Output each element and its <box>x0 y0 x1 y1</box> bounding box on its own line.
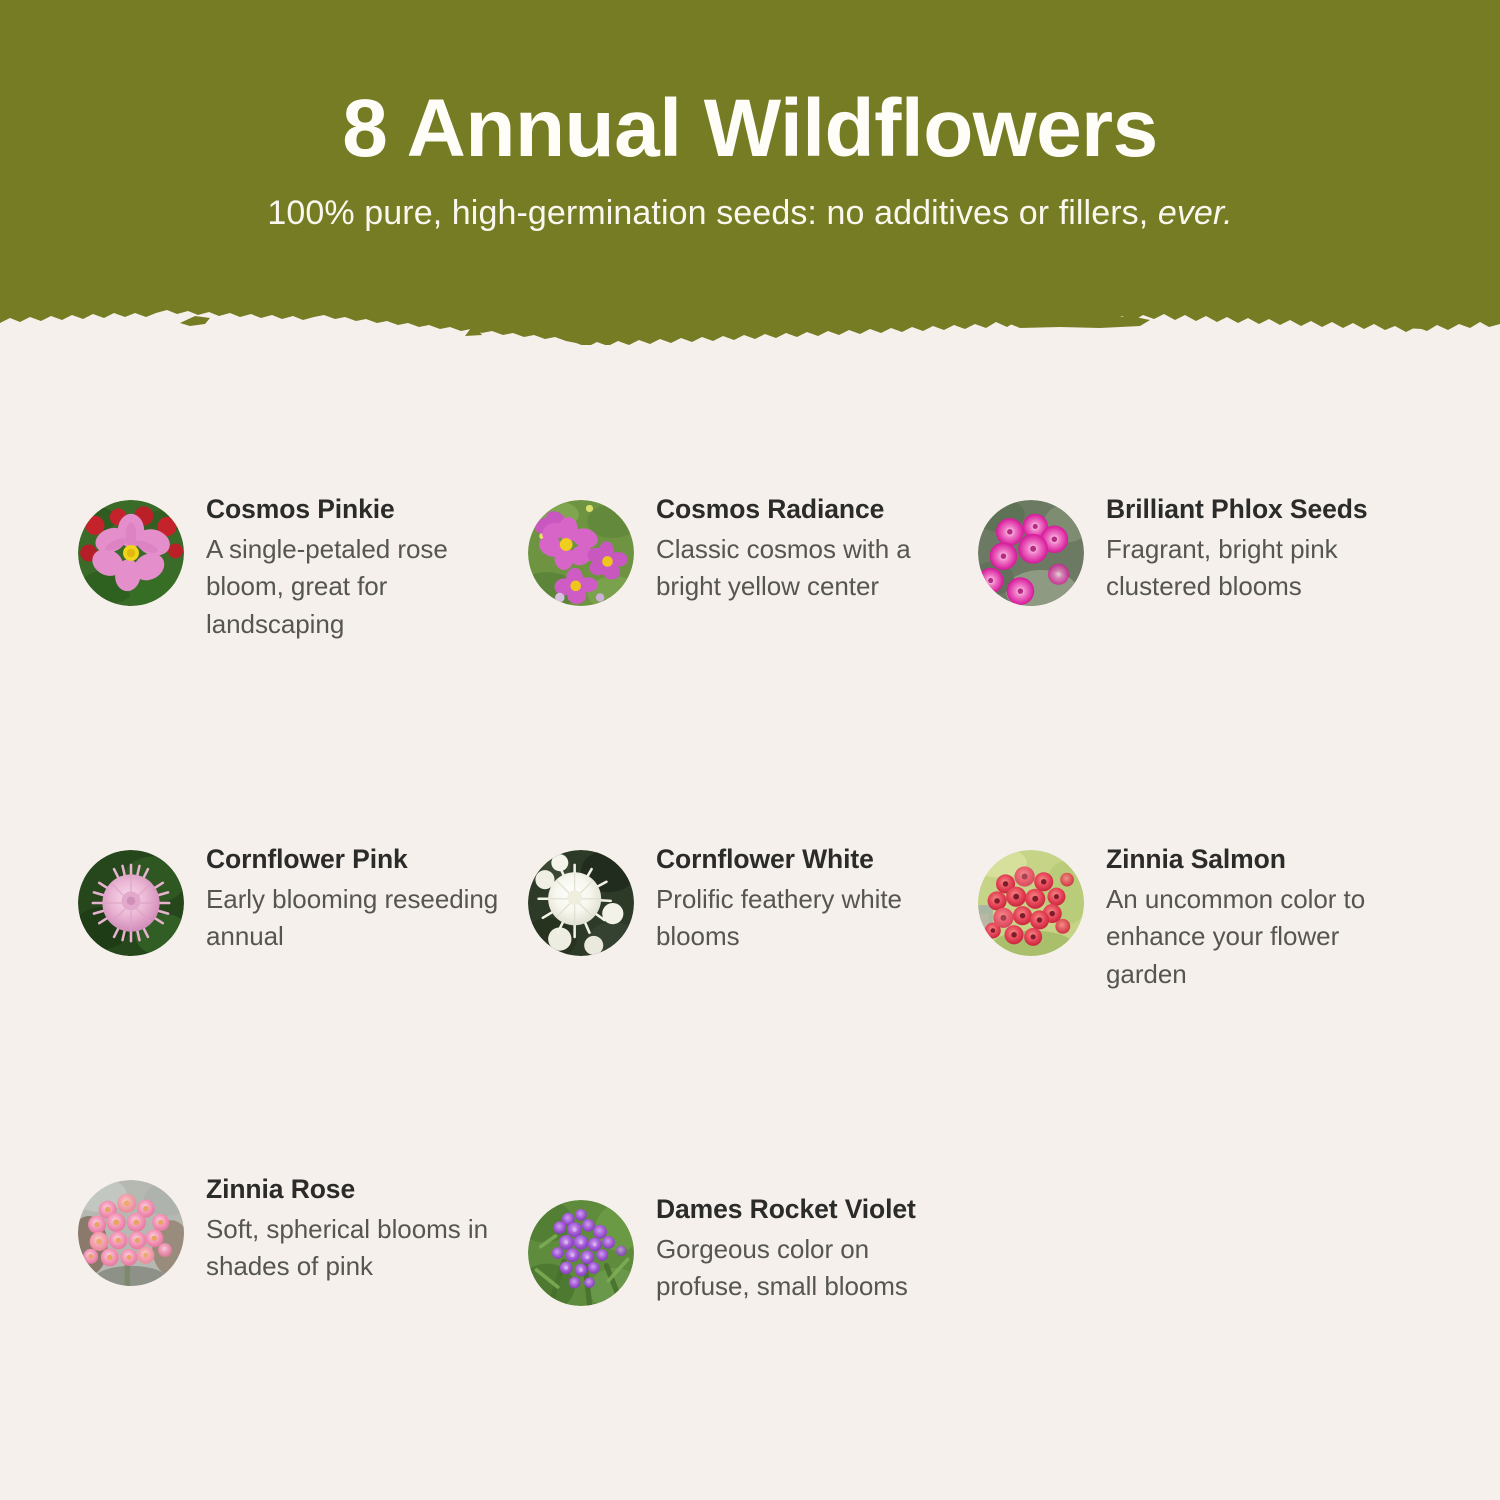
flower-text-block: Zinnia Rose Soft, spherical blooms in sh… <box>184 1150 510 1286</box>
list-item[interactable]: Brilliant Phlox Seeds Fragrant, bright p… <box>978 470 1438 606</box>
list-item[interactable]: Cosmos Radiance Classic cosmos with a br… <box>528 470 978 606</box>
flower-text-block: Cornflower White Prolific feathery white… <box>634 820 960 956</box>
subtitle-text: 100% pure, high-germination seeds: no ad… <box>267 194 1157 232</box>
flower-text-block: Brilliant Phlox Seeds Fragrant, bright p… <box>1084 470 1420 606</box>
flower-row: Cosmos Pinkie A single-petaled rose bloo… <box>78 470 1438 820</box>
list-item[interactable]: Cornflower White Prolific feathery white… <box>528 820 978 956</box>
flower-name: Cosmos Radiance <box>656 492 960 528</box>
flower-text-block: Cosmos Pinkie A single-petaled rose bloo… <box>184 470 510 643</box>
flower-name: Cornflower Pink <box>206 842 510 878</box>
flower-name: Dames Rocket Violet <box>656 1192 960 1228</box>
list-item[interactable]: Cosmos Pinkie A single-petaled rose bloo… <box>78 470 528 643</box>
flower-text-block: Zinnia Salmon An uncommon color to enhan… <box>1084 820 1420 993</box>
list-item[interactable]: Dames Rocket Violet Gorgeous color on pr… <box>528 1170 978 1306</box>
page-title: 8 Annual Wildflowers <box>0 0 1500 170</box>
flower-thumbnail-zinnia-salmon <box>978 850 1084 956</box>
flower-description: A single-petaled rose bloom, great for l… <box>206 528 510 643</box>
list-item[interactable]: Zinnia Rose Soft, spherical blooms in sh… <box>78 1150 528 1286</box>
flower-description: Gorgeous color on profuse, small blooms <box>656 1228 960 1306</box>
flower-row: Zinnia Rose Soft, spherical blooms in sh… <box>78 1150 1438 1390</box>
flower-description: Prolific feathery white blooms <box>656 878 960 956</box>
flower-thumbnail-cornflower-pink <box>78 850 184 956</box>
flower-thumbnail-cosmos-radiance <box>528 500 634 606</box>
flower-name: Brilliant Phlox Seeds <box>1106 492 1420 528</box>
header-banner: 8 Annual Wildflowers 100% pure, high-ger… <box>0 0 1500 345</box>
flower-name: Zinnia Rose <box>206 1172 510 1208</box>
flower-thumbnail-dames-rocket-violet <box>528 1200 634 1306</box>
flower-name: Zinnia Salmon <box>1106 842 1420 878</box>
flower-description: Early blooming reseeding annual <box>206 878 510 956</box>
flower-list: Cosmos Pinkie A single-petaled rose bloo… <box>78 470 1438 1390</box>
header-text-block: 8 Annual Wildflowers 100% pure, high-ger… <box>0 0 1500 233</box>
flower-name: Cosmos Pinkie <box>206 492 510 528</box>
flower-text-block: Dames Rocket Violet Gorgeous color on pr… <box>634 1170 960 1306</box>
flower-text-block: Cosmos Radiance Classic cosmos with a br… <box>634 470 960 606</box>
flower-description: Fragrant, bright pink clustered blooms <box>1106 528 1420 606</box>
flower-description: An uncommon color to enhance your flower… <box>1106 878 1420 993</box>
page-subtitle: 100% pure, high-germination seeds: no ad… <box>0 170 1500 233</box>
flower-thumbnail-zinnia-rose <box>78 1180 184 1286</box>
flower-description: Classic cosmos with a bright yellow cent… <box>656 528 960 606</box>
flower-thumbnail-cosmos-pinkie <box>78 500 184 606</box>
flower-description: Soft, spherical blooms in shades of pink <box>206 1208 510 1286</box>
torn-paper-edge-icon <box>0 280 1500 345</box>
list-item[interactable]: Zinnia Salmon An uncommon color to enhan… <box>978 820 1438 993</box>
flower-thumbnail-cornflower-white <box>528 850 634 956</box>
flower-text-block: Cornflower Pink Early blooming reseeding… <box>184 820 510 956</box>
flower-name: Cornflower White <box>656 842 960 878</box>
flower-thumbnail-brilliant-phlox <box>978 500 1084 606</box>
flower-row: Cornflower Pink Early blooming reseeding… <box>78 820 1438 1150</box>
list-item[interactable]: Cornflower Pink Early blooming reseeding… <box>78 820 528 956</box>
subtitle-emphasis: ever. <box>1158 194 1233 232</box>
